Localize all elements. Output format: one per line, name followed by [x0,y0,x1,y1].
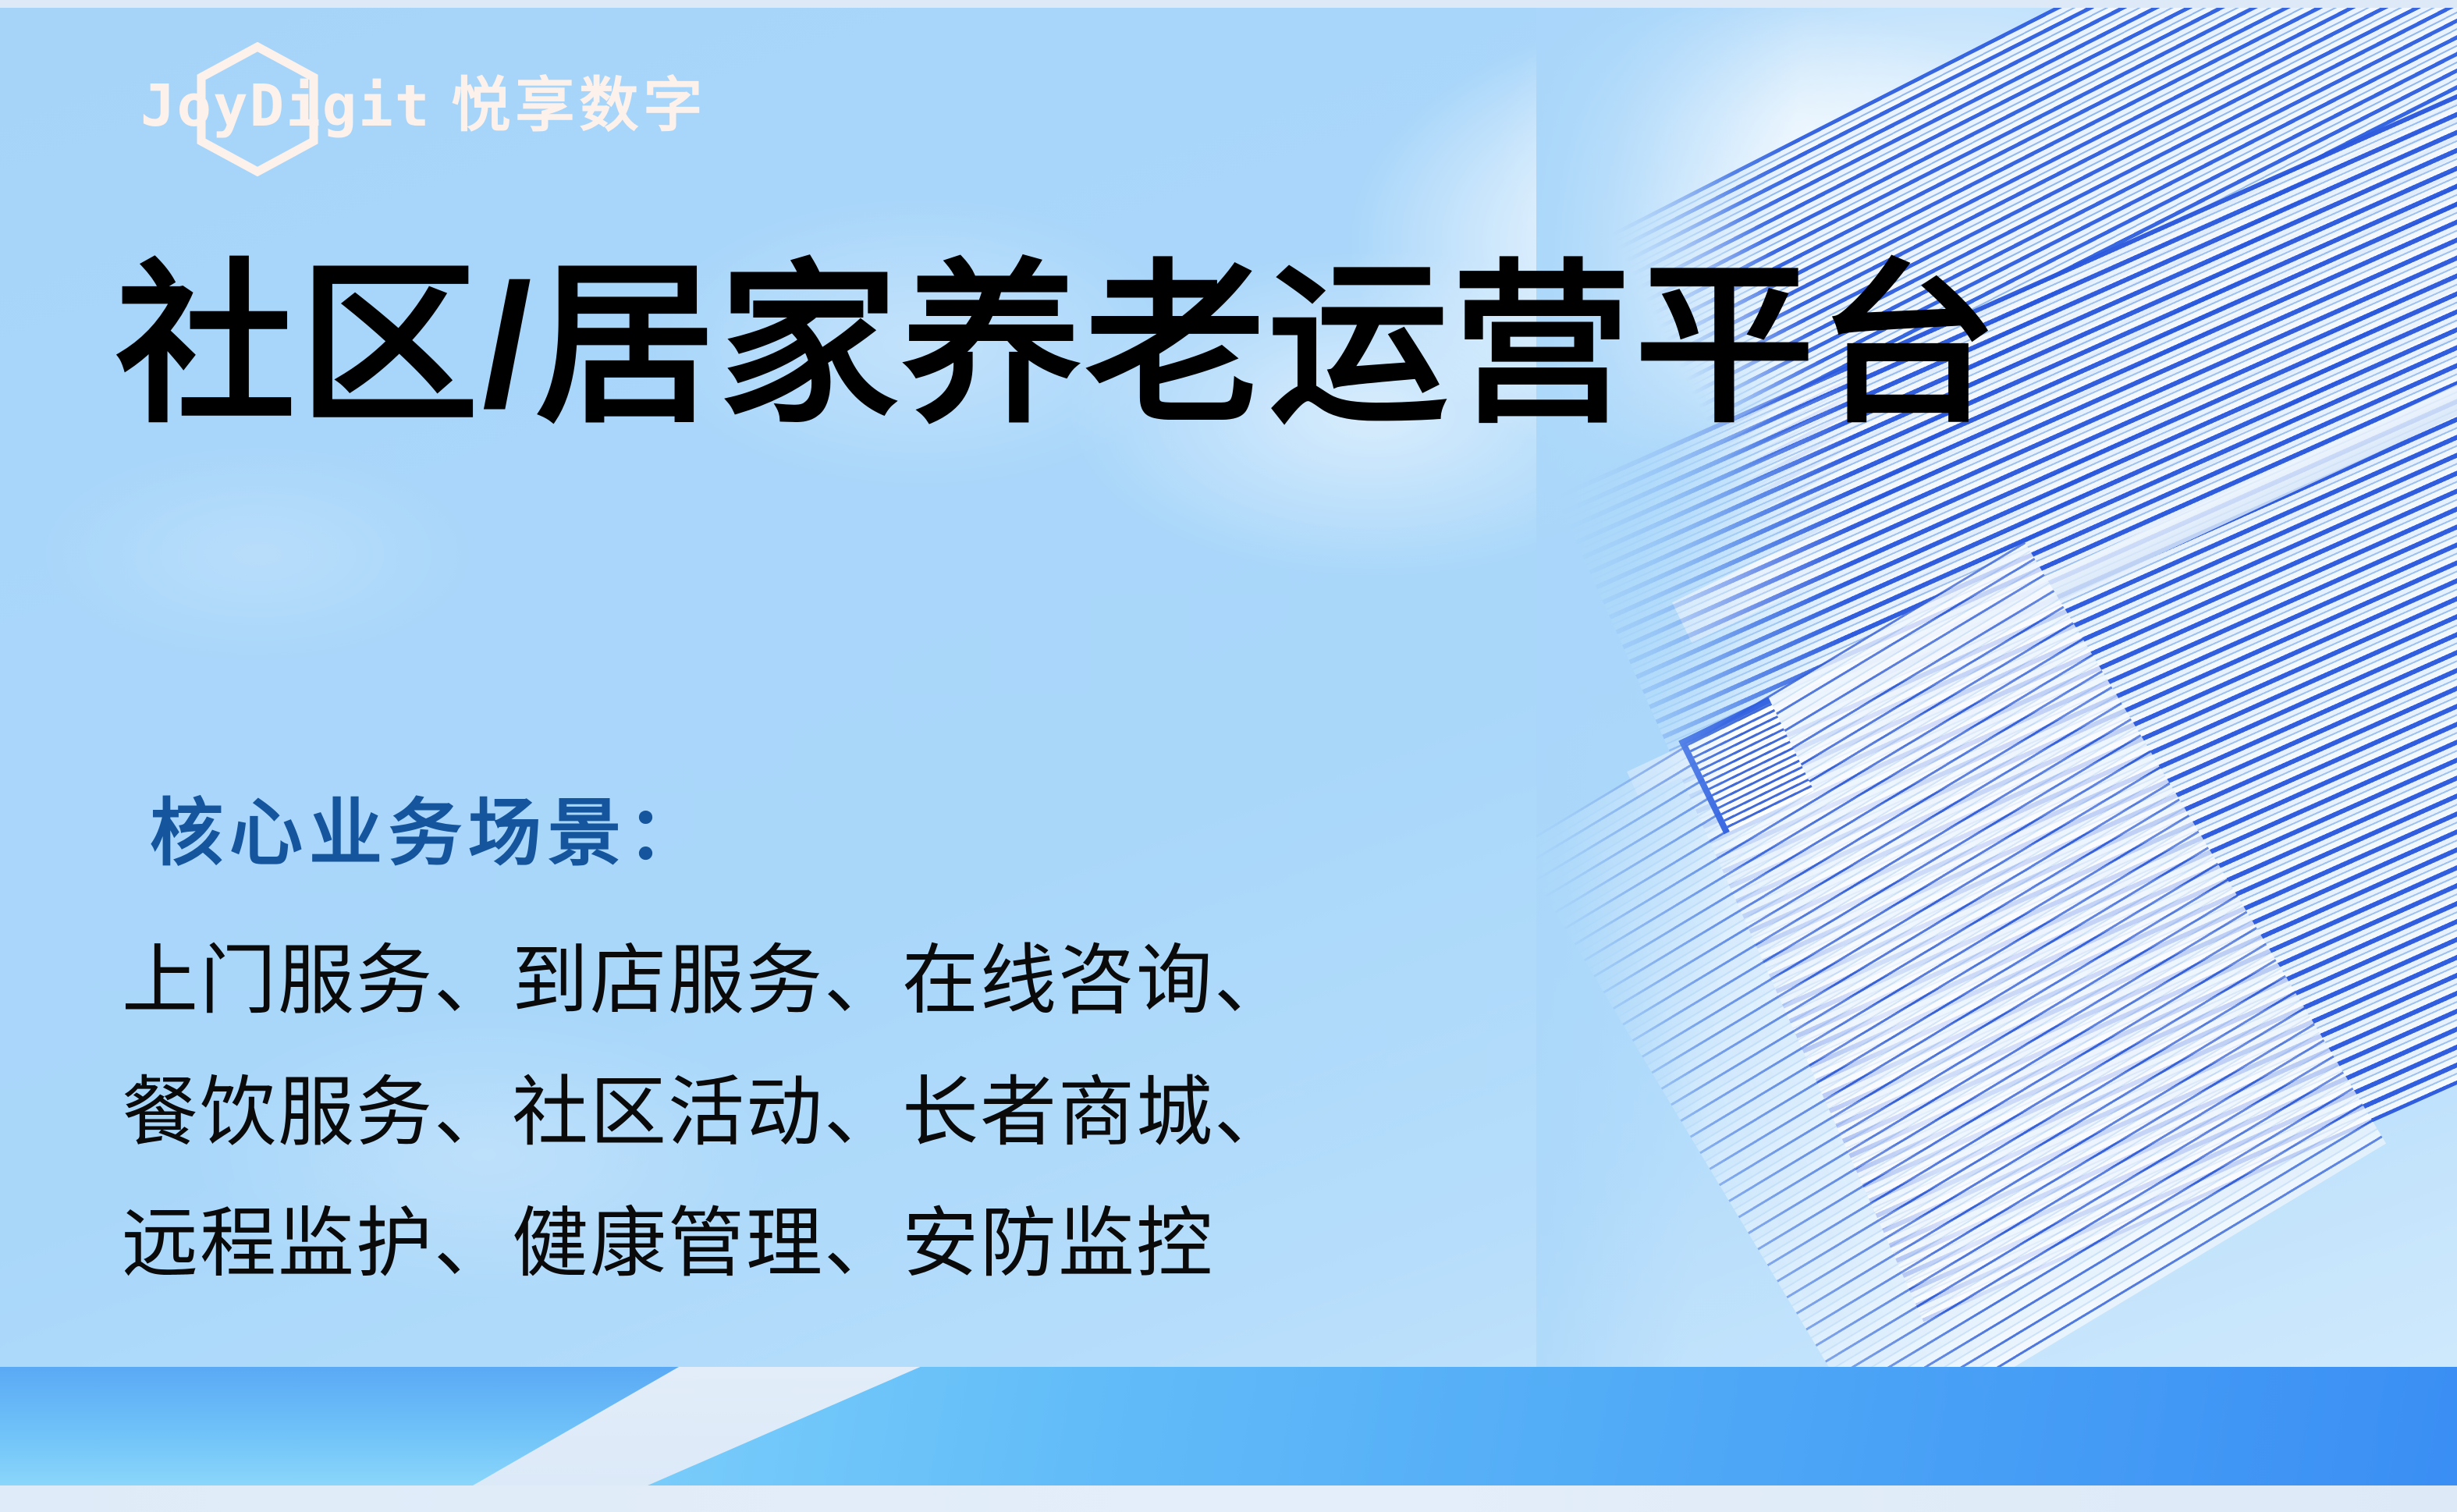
building-photo [1536,8,2457,1375]
footer-bottom-strip [0,1485,2457,1512]
footer-shape-left [0,1367,679,1485]
page-title: 社区/居家养老运营平台 [115,248,2285,444]
footer-band [0,1367,2457,1512]
brand-logo-text: JoyDigit 悦享数字 [140,76,707,136]
brand-logo[interactable]: JoyDigit 悦享数字 [140,69,707,143]
brand-logo-en: JoyDigit [140,77,431,135]
slide-canvas: JoyDigit 悦享数字 社区/居家养老运营平台 核心业务场景： 上门服务、到… [0,0,2457,1512]
scenario-line-3: 远程监护、健康管理、安防监控 [122,1177,1292,1309]
scenario-list: 上门服务、到店服务、在线咨询、 餐饮服务、社区活动、长者商城、 远程监护、健康管… [122,914,1292,1309]
brand-logo-cn: 悦享数字 [451,76,707,136]
scenario-line-2: 餐饮服务、社区活动、长者商城、 [122,1046,1292,1178]
footer-shape-right [648,1367,2457,1485]
scenario-line-1: 上门服务、到店服务、在线咨询、 [122,914,1292,1046]
section-subtitle: 核心业务场景： [150,774,707,880]
top-border [0,0,2457,8]
